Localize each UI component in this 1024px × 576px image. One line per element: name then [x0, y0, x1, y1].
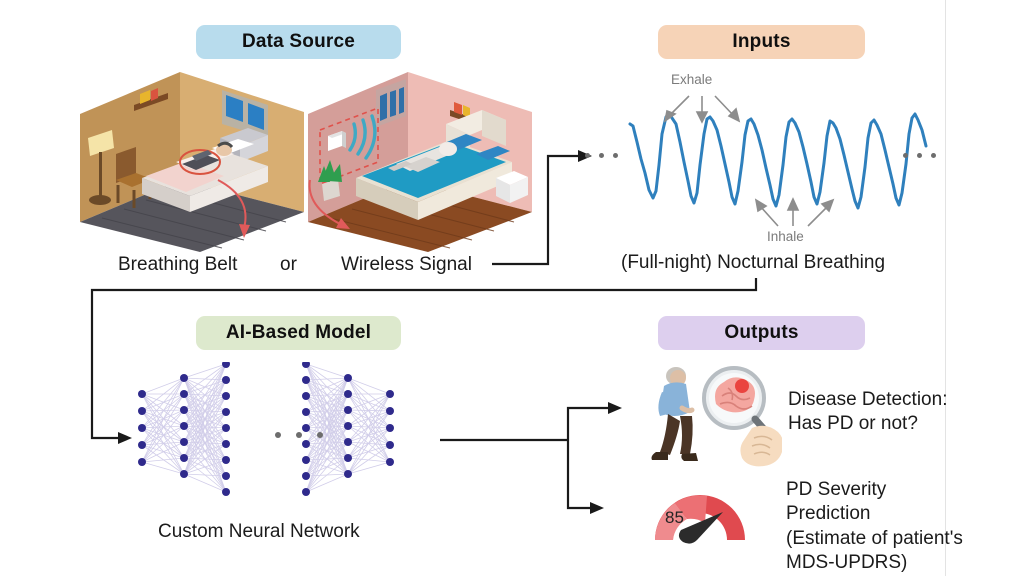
red-arrow-belt — [214, 176, 274, 248]
output-disease-detection-line-2: Has PD or not? — [788, 412, 958, 436]
section-header-inputs-label: Inputs — [732, 31, 790, 53]
red-arrow-wireless — [300, 176, 362, 248]
section-header-inputs: Inputs — [658, 25, 865, 59]
severity-gauge: 85 — [645, 478, 755, 548]
breathing-waveform-line — [630, 113, 926, 208]
annotation-inhale-label: Inhale — [767, 229, 804, 244]
output-severity-line-3: MDS-UPDRS) — [786, 551, 976, 575]
neural-network-ellipsis-dots — [275, 432, 323, 438]
label-or: or — [280, 254, 297, 276]
output-severity-line-2: (Estimate of patient's — [786, 527, 976, 551]
room-illustration-breathing-belt — [72, 72, 312, 252]
label-breathing-belt: Breathing Belt — [118, 254, 237, 276]
annotation-exhale-arrows — [655, 90, 765, 126]
label-wireless-signal: Wireless Signal — [341, 254, 472, 276]
section-header-data-source-label: Data Source — [242, 31, 355, 53]
output-disease-detection-line-1: Disease Detection: — [788, 388, 958, 412]
annotation-exhale-label: Exhale — [671, 72, 712, 87]
connector-model-to-outputs — [440, 380, 640, 540]
output-severity-text: PD Severity Prediction (Estimate of pati… — [786, 478, 976, 575]
output-severity-line-1: PD Severity Prediction — [786, 478, 976, 527]
waveform-trailing-dots — [903, 153, 936, 158]
severity-gauge-value: 85 — [665, 508, 684, 528]
neural-network-diagram — [128, 362, 418, 510]
caption-custom-neural-network: Custom Neural Network — [158, 521, 360, 543]
figure-canvas: Data Source Inputs AI-Based Model Output… — [0, 0, 1024, 576]
output-disease-detection-text: Disease Detection: Has PD or not? — [788, 388, 958, 437]
section-header-data-source: Data Source — [196, 25, 401, 59]
disease-detection-icon — [634, 362, 782, 480]
caption-nocturnal-breathing: (Full-night) Nocturnal Breathing — [621, 252, 885, 274]
waveform-leading-dots — [585, 153, 618, 158]
connector-source-to-inputs — [492, 144, 602, 272]
